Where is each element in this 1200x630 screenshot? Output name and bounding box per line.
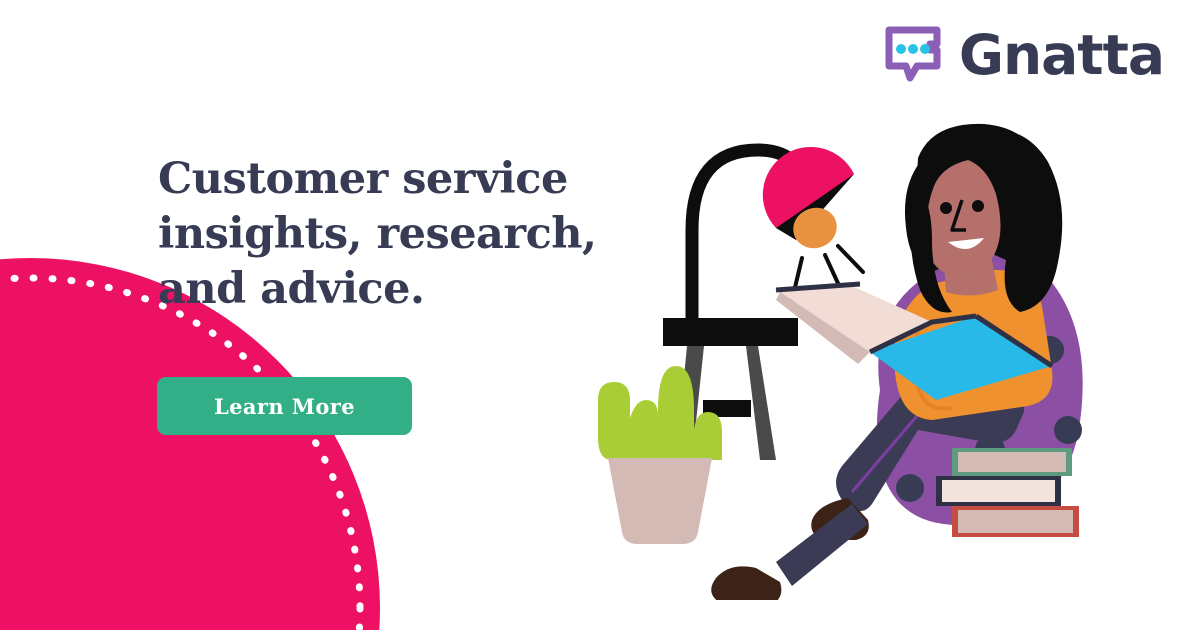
page-title: Customer service insights, research, and… bbox=[158, 152, 628, 317]
book-stack-graphic bbox=[936, 448, 1079, 537]
speech-bubble-icon bbox=[883, 26, 943, 84]
brand-wordmark: Gnatta bbox=[959, 28, 1164, 83]
learn-more-button[interactable]: Learn More bbox=[157, 377, 412, 435]
cactus-plant-graphic bbox=[598, 366, 722, 544]
headline-line-3: and advice. bbox=[158, 264, 424, 314]
headline-line-1: Customer service bbox=[158, 154, 568, 204]
brand-logo[interactable]: Gnatta bbox=[883, 26, 1164, 84]
headline-line-2: insights, research, bbox=[158, 209, 597, 259]
marketing-banner: Gnatta Customer service insights, resear… bbox=[0, 0, 1200, 630]
hero-illustration bbox=[580, 100, 1200, 600]
